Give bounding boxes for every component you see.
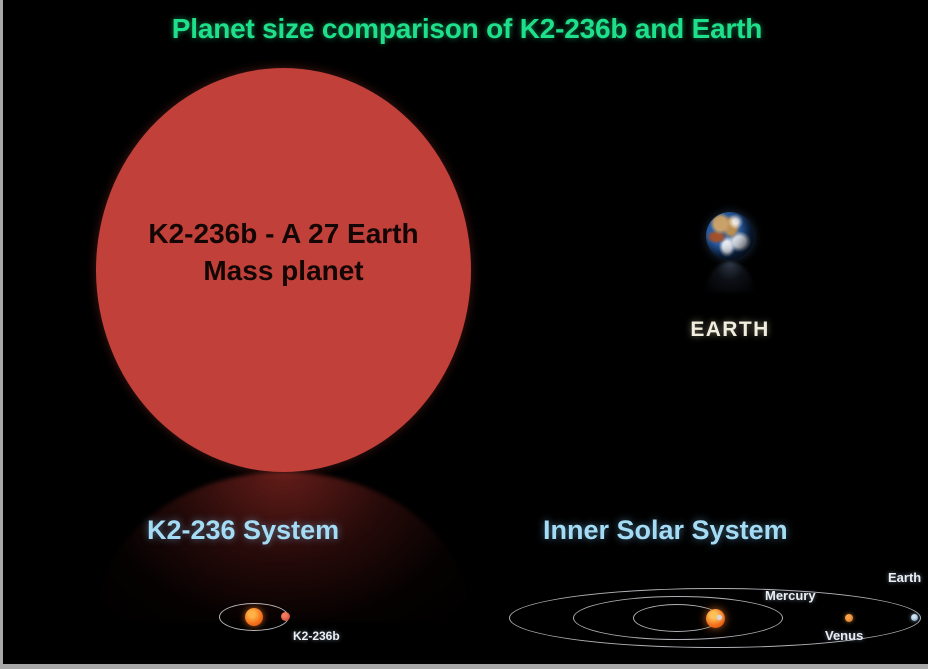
earth-reflection xyxy=(706,262,754,292)
venus-orbit-label: Venus xyxy=(825,628,863,643)
k2-236b-planet-dot xyxy=(281,612,290,621)
inner-solar-system-diagram: Mercury Venus Earth xyxy=(503,566,928,666)
k2-236-system-caption: K2-236 System xyxy=(147,515,339,546)
sun-icon xyxy=(706,609,725,628)
inner-solar-system-caption: Inner Solar System xyxy=(543,515,788,546)
k2-236-system-diagram: K2-236b xyxy=(215,596,365,648)
k2-236b-label-line-1: K2-236b - A 27 Earth xyxy=(106,216,461,253)
k2-236b-planet-label: K2-236b - A 27 Earth Mass planet xyxy=(106,216,461,290)
k2-236b-dot-label: K2-236b xyxy=(293,629,340,643)
earth-label: EARTH xyxy=(630,318,830,342)
earth-disc-icon xyxy=(706,212,754,260)
earth-orbit-label: Earth xyxy=(888,570,921,585)
venus-planet-dot xyxy=(845,614,853,622)
earth-globe xyxy=(706,212,754,260)
earth-planet-dot xyxy=(911,614,918,621)
mercury-planet-dot xyxy=(717,615,722,620)
k2-236b-label-line-2: Mass planet xyxy=(106,253,461,290)
page-title: Planet size comparison of K2-236b and Ea… xyxy=(3,13,928,45)
mercury-orbit-label: Mercury xyxy=(765,588,816,603)
figure-canvas: Planet size comparison of K2-236b and Ea… xyxy=(0,0,928,669)
k2-236-star-icon xyxy=(245,608,263,626)
k2-236b-planet: K2-236b - A 27 Earth Mass planet xyxy=(96,68,471,472)
